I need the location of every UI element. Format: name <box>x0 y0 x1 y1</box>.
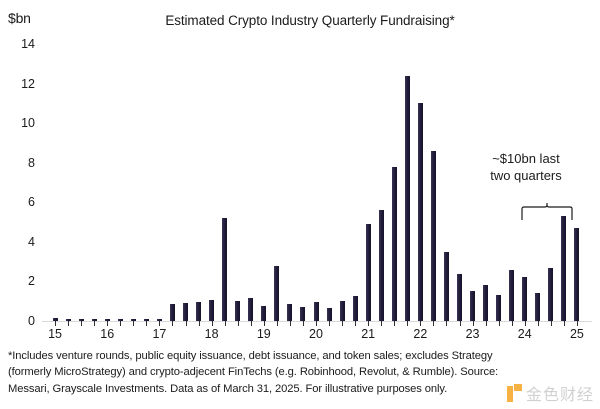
x-axis-tick <box>316 321 317 326</box>
footnote-line-3: Messari, Grayscale Investments. Data as … <box>8 381 564 397</box>
bar <box>379 210 384 321</box>
bar <box>196 302 201 321</box>
x-axis-tick <box>303 321 304 326</box>
bar <box>483 285 488 321</box>
bar <box>470 291 475 321</box>
x-axis-tick <box>94 321 95 326</box>
annotation-line-2: two quarters <box>460 167 592 184</box>
y-axis-tick-label: 0 <box>28 314 35 328</box>
bar <box>444 252 449 321</box>
x-axis-tick <box>277 321 278 326</box>
x-axis-tick <box>146 321 147 326</box>
x-axis-tick <box>512 321 513 326</box>
bar <box>457 274 462 321</box>
x-axis-tick <box>368 321 369 326</box>
bar <box>496 295 501 321</box>
x-axis-tick-label: 24 <box>518 327 532 341</box>
x-axis-tick <box>420 321 421 326</box>
bar <box>405 76 410 321</box>
bar <box>209 300 214 321</box>
y-axis-tick-label: 4 <box>28 235 35 249</box>
x-axis-labels: 1516171819202122232425 <box>42 327 590 345</box>
x-axis-tick-label: 15 <box>48 327 62 341</box>
footnote-line-1: *Includes venture rounds, public equity … <box>8 348 564 364</box>
x-axis-tick <box>577 321 578 326</box>
watermark: 金色财经 <box>507 381 594 405</box>
chart-title: Estimated Crypto Industry Quarterly Fund… <box>0 13 600 28</box>
bar <box>235 301 240 321</box>
bar <box>170 304 175 321</box>
x-axis-tick <box>551 321 552 326</box>
x-axis-tick <box>394 321 395 326</box>
y-axis-tick-label: 14 <box>21 37 35 51</box>
bar <box>392 167 397 321</box>
y-axis-tick-label: 8 <box>28 156 35 170</box>
x-axis-tick <box>225 321 226 326</box>
x-axis-tick-label: 16 <box>100 327 114 341</box>
x-axis-tick <box>355 321 356 326</box>
y-axis-tick-label: 10 <box>21 116 35 130</box>
x-axis-tick <box>133 321 134 326</box>
bar <box>535 293 540 321</box>
x-axis-tick <box>446 321 447 326</box>
bar <box>300 307 305 321</box>
watermark-text: 金色财经 <box>526 381 594 405</box>
annotation-line-1: ~$10bn last <box>460 150 592 167</box>
bar <box>522 277 527 321</box>
watermark-logo-icon <box>507 384 522 402</box>
bar <box>287 304 292 321</box>
x-axis-tick <box>486 321 487 326</box>
annotation-callout: ~$10bn last two quarters <box>460 150 592 184</box>
x-axis-tick-label: 17 <box>152 327 166 341</box>
footnote-line-2: (formerly MicroStrategy) and crypto-adje… <box>8 364 564 380</box>
x-axis-tick <box>499 321 500 326</box>
x-axis-tick-label: 23 <box>466 327 480 341</box>
x-axis-tick-label: 19 <box>257 327 271 341</box>
x-axis-tick <box>433 321 434 326</box>
x-axis-tick <box>55 321 56 326</box>
bar <box>509 270 514 321</box>
bar <box>248 298 253 321</box>
bar <box>340 301 345 321</box>
x-axis-tick <box>329 321 330 326</box>
x-axis-tick <box>212 321 213 326</box>
x-axis-tick <box>342 321 343 326</box>
x-axis-tick <box>381 321 382 326</box>
x-axis-tick <box>186 321 187 326</box>
bar <box>353 296 358 321</box>
x-axis-tick <box>238 321 239 326</box>
x-axis-tick <box>251 321 252 326</box>
x-axis-tick <box>564 321 565 326</box>
x-axis-tick <box>290 321 291 326</box>
y-axis-tick-label: 6 <box>28 195 35 209</box>
footnote: *Includes venture rounds, public equity … <box>8 348 564 397</box>
x-axis-tick <box>538 321 539 326</box>
x-axis-tick <box>460 321 461 326</box>
x-axis-tick <box>159 321 160 326</box>
x-axis-tick <box>81 321 82 326</box>
x-axis-tick <box>107 321 108 326</box>
bar <box>366 224 371 321</box>
bar <box>548 268 553 321</box>
y-axis-tick-label: 2 <box>28 274 35 288</box>
bar <box>222 218 227 321</box>
y-axis-tick-label: 12 <box>21 77 35 91</box>
x-axis-tick-label: 22 <box>413 327 427 341</box>
bar <box>327 308 332 321</box>
x-axis-tick <box>68 321 69 326</box>
x-axis-tick <box>407 321 408 326</box>
bar <box>574 228 579 321</box>
bar <box>261 306 266 321</box>
x-axis-tick-label: 20 <box>309 327 323 341</box>
x-axis-tick <box>525 321 526 326</box>
x-axis-tick-label: 21 <box>361 327 375 341</box>
bar <box>183 303 188 321</box>
x-axis-tick <box>120 321 121 326</box>
x-axis-tick <box>264 321 265 326</box>
bar <box>561 216 566 321</box>
annotation-bracket-icon <box>521 203 573 221</box>
bar <box>314 302 319 321</box>
chart-page: $bn Estimated Crypto Industry Quarterly … <box>0 0 600 409</box>
bar <box>418 103 423 321</box>
bar <box>431 151 436 321</box>
x-axis-tick-label: 18 <box>205 327 219 341</box>
x-axis-tick <box>199 321 200 326</box>
bar <box>274 266 279 321</box>
x-axis-tick-label: 25 <box>570 327 584 341</box>
x-axis-tick <box>473 321 474 326</box>
x-axis-tick <box>172 321 173 326</box>
